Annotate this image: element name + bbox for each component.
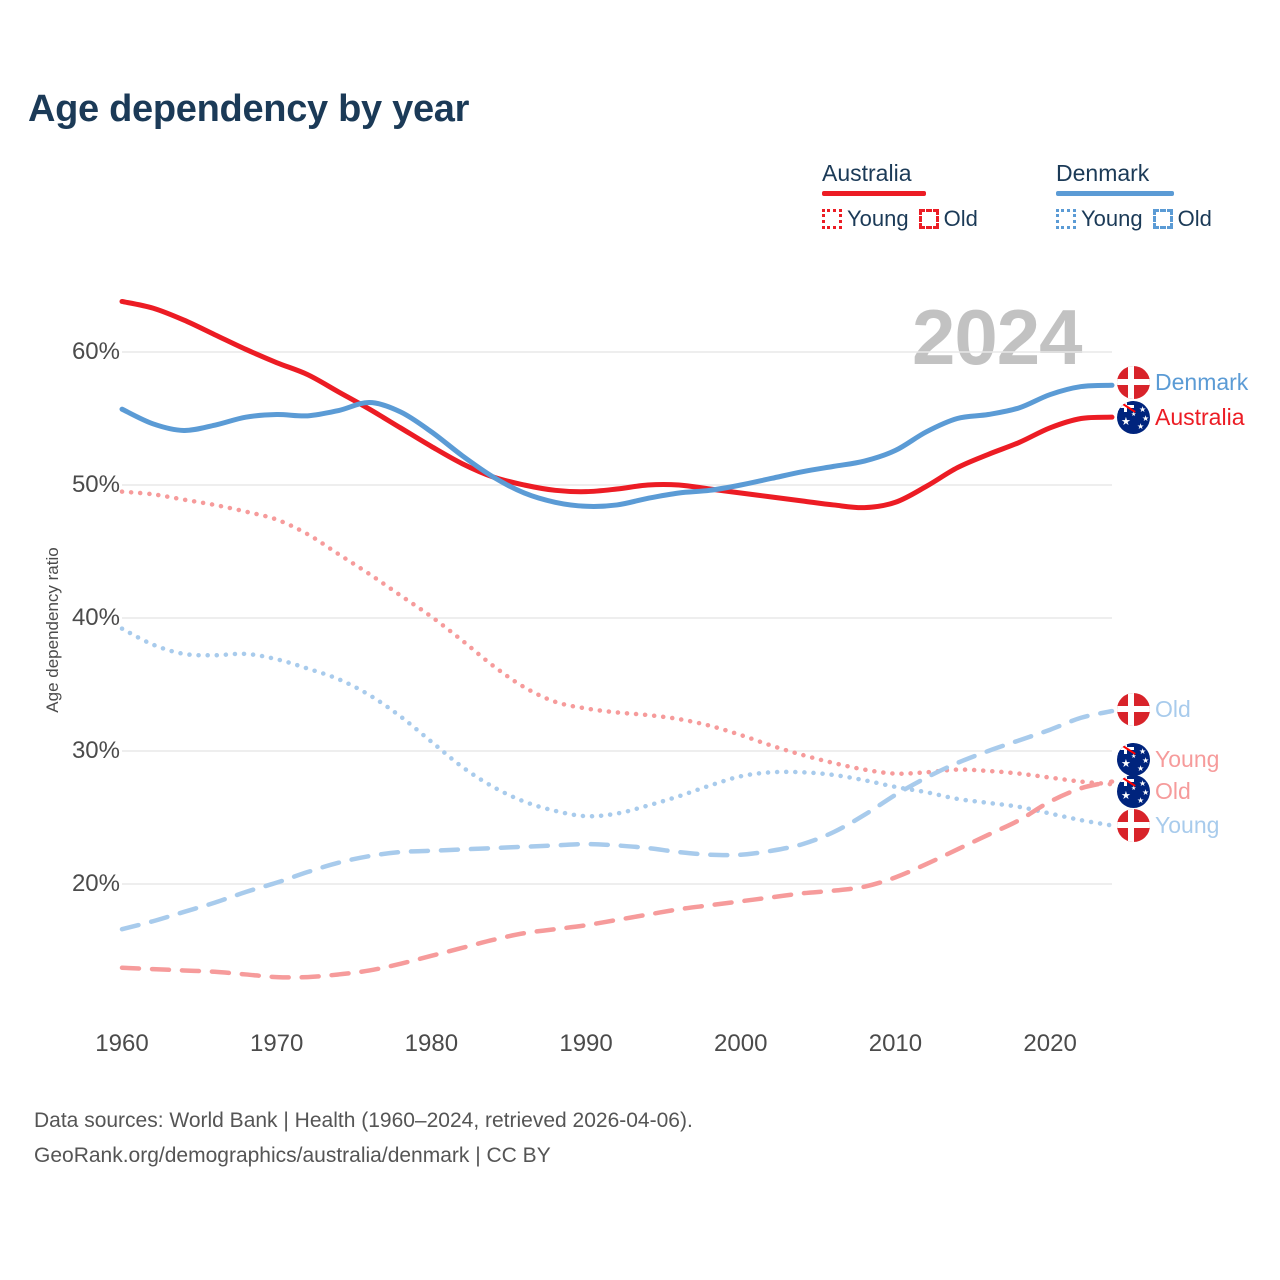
y-axis-tick-label: 40% [0,604,120,632]
footer-attribution: GeoRank.org/demographics/australia/denma… [34,1139,693,1174]
x-axis-tick-label: 2020 [990,1030,1110,1058]
footer: Data sources: World Bank | Health (1960–… [34,1104,693,1173]
chart-page: Age dependency by year Australia Young O… [0,0,1280,1280]
series-end-label[interactable]: Old [1117,693,1191,726]
series-end-label[interactable]: ★★★★★Old [1117,775,1191,808]
series-end-label-text: Young [1155,812,1219,839]
denmark-flag-icon [1117,809,1150,842]
series-end-label-text: Young [1155,746,1219,773]
series-end-label[interactable]: Denmark [1117,366,1248,399]
series-line [122,782,1112,978]
series-end-label-text: Denmark [1155,369,1248,396]
series-end-label[interactable]: ★★★★★Young [1117,743,1219,776]
series-end-label-text: Old [1155,696,1191,723]
denmark-flag-icon [1117,366,1150,399]
series-end-label-text: Australia [1155,404,1244,431]
australia-flag-icon: ★★★★★ [1117,401,1150,434]
x-axis-tick-label: 2000 [681,1030,801,1058]
x-axis-tick-label: 2010 [835,1030,955,1058]
y-axis-tick-label: 60% [0,338,120,366]
series-end-label[interactable]: Young [1117,809,1219,842]
series-end-label-text: Old [1155,778,1191,805]
x-axis-tick-label: 1980 [371,1030,491,1058]
series-line [122,492,1112,785]
chart-svg [0,0,1280,1280]
plot-area: Age dependency ratio 2024 20%30%40%50%60… [0,0,1280,1280]
x-axis-tick-label: 1960 [62,1030,182,1058]
footer-data-sources: Data sources: World Bank | Health (1960–… [34,1104,693,1139]
x-axis-tick-label: 1990 [526,1030,646,1058]
y-axis-tick-label: 30% [0,737,120,765]
x-axis-tick-label: 1970 [217,1030,337,1058]
series-end-label[interactable]: ★★★★★Australia [1117,401,1244,434]
y-axis-tick-label: 50% [0,471,120,499]
denmark-flag-icon [1117,693,1150,726]
series-line [122,711,1112,929]
y-axis-tick-label: 20% [0,870,120,898]
australia-flag-icon: ★★★★★ [1117,775,1150,808]
series-line [122,629,1112,826]
series-line [122,301,1112,507]
australia-flag-icon: ★★★★★ [1117,743,1150,776]
